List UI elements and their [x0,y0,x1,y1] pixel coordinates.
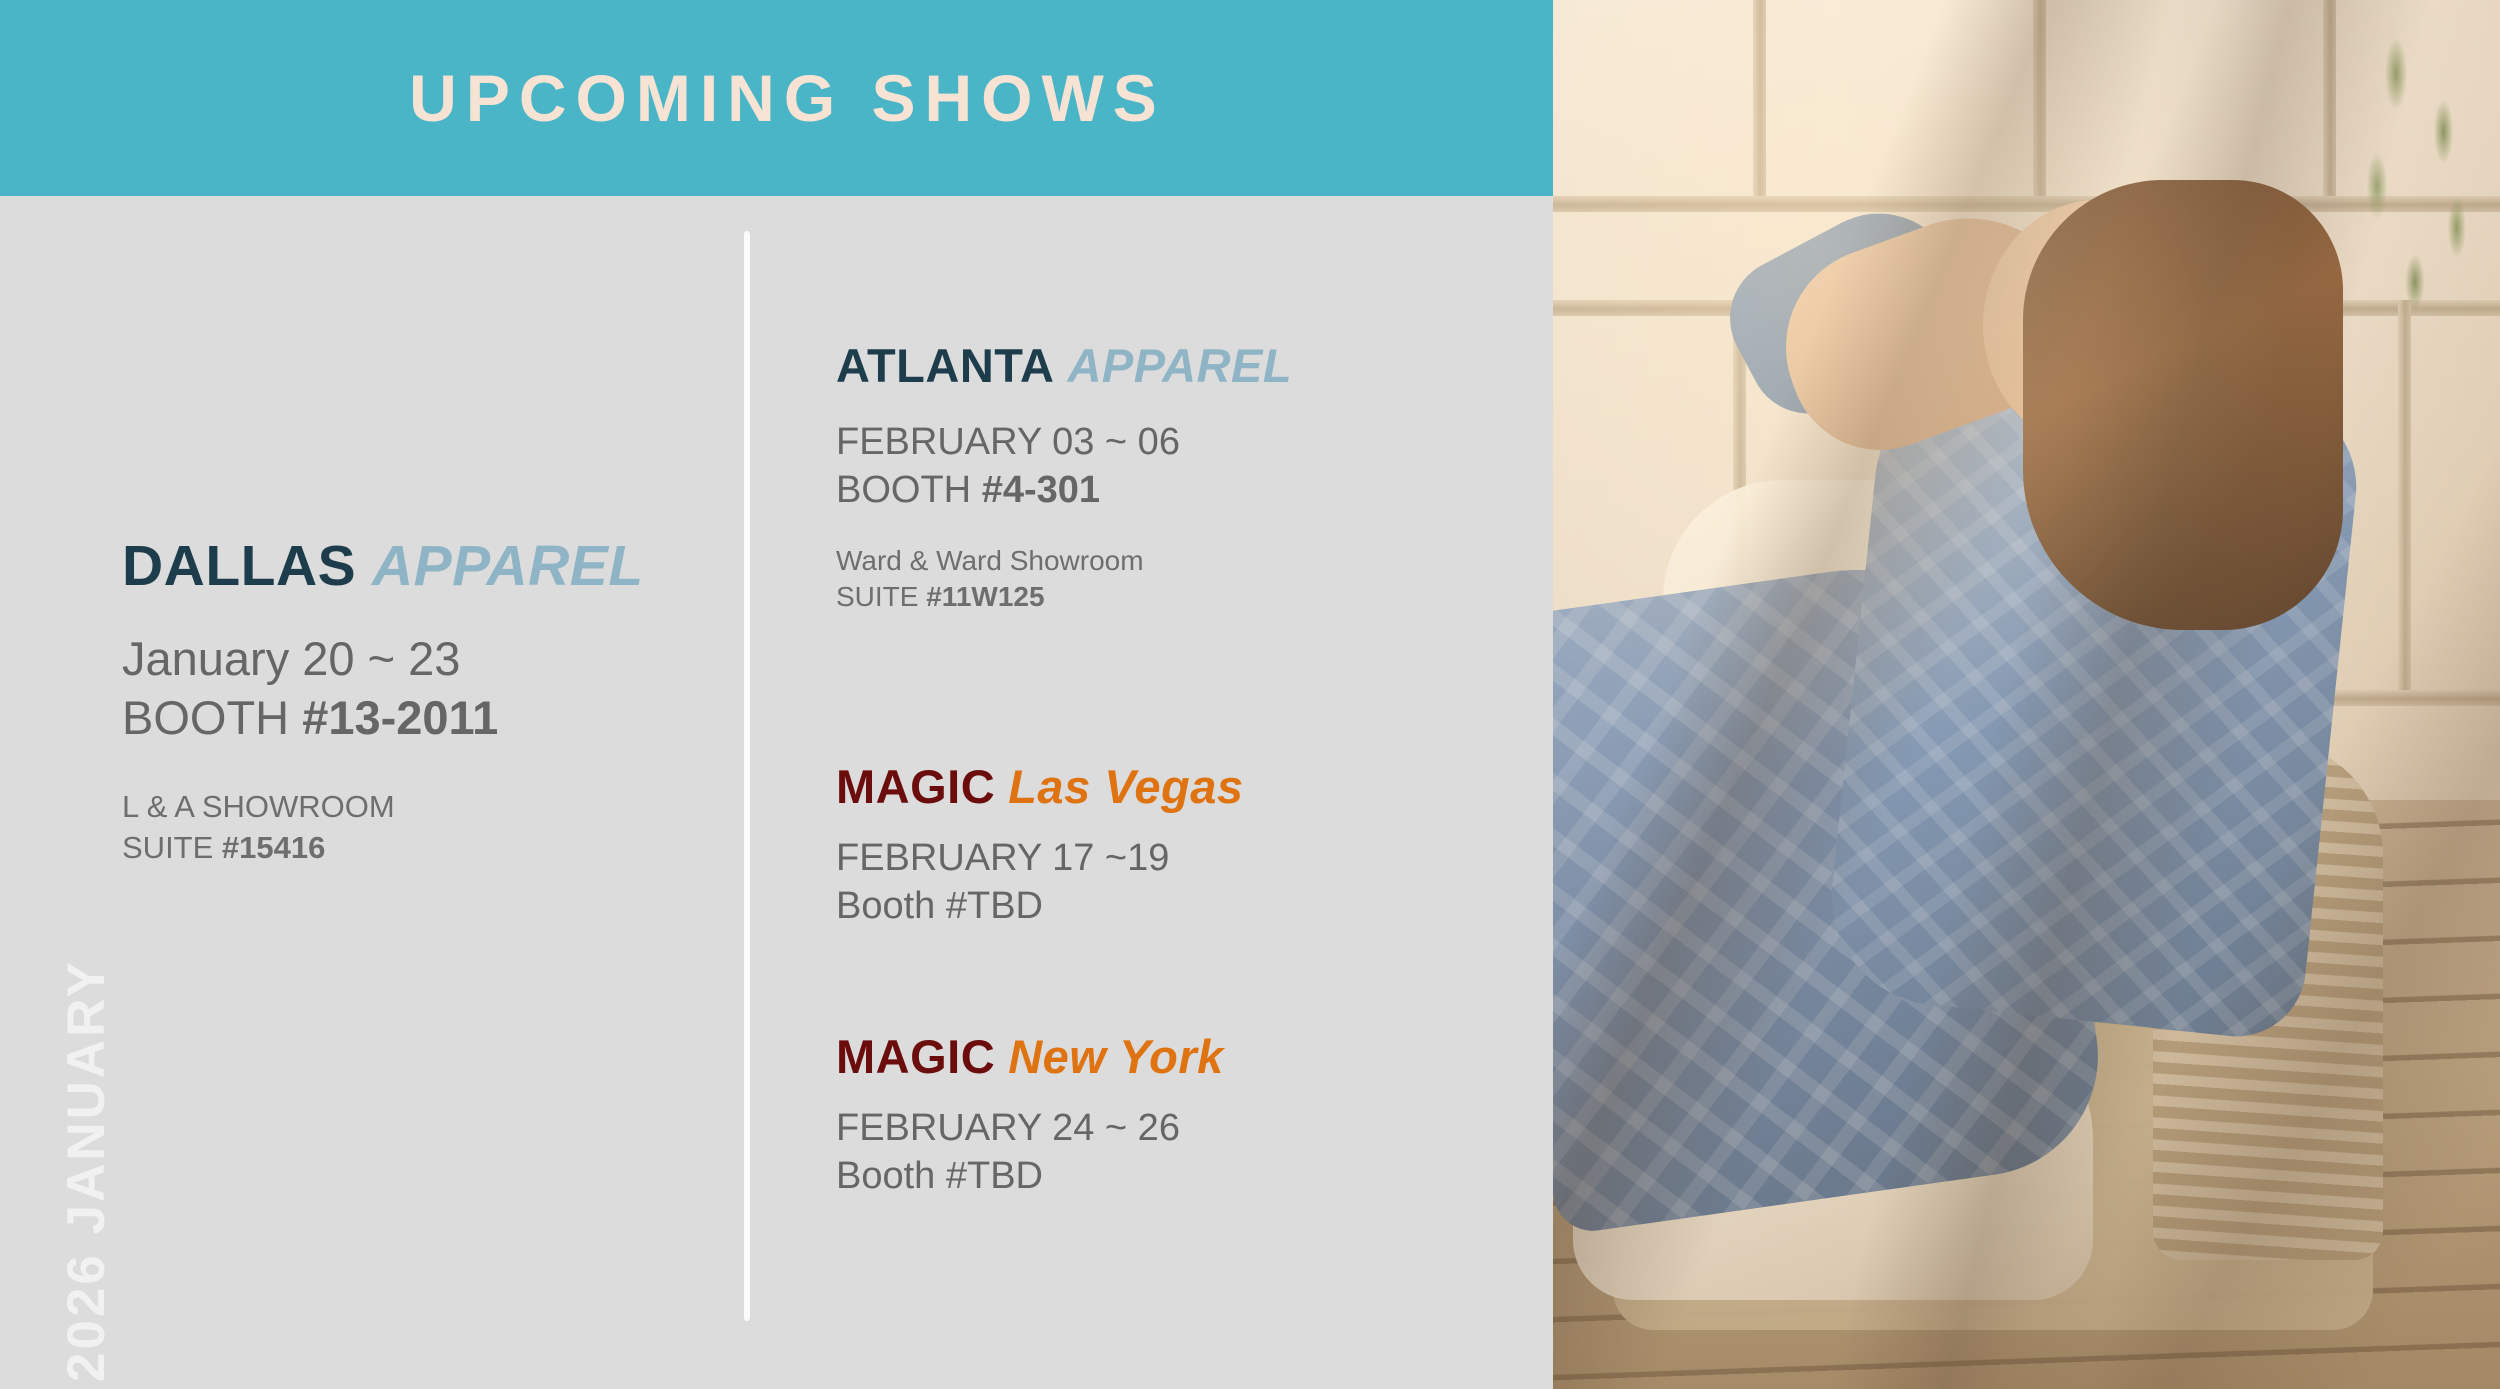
show-brand-atlanta: APPAREL [1067,339,1292,392]
dallas-booth-label: BOOTH [122,691,302,744]
photo-window-frame-v6 [2398,300,2411,690]
page-title: UPCOMING SHOWS [0,0,1553,196]
atlanta-suite-label: SUITE [836,581,926,612]
show-title-atlanta: ATLANTA APPAREL [836,342,1292,389]
dallas-showroom: L & A SHOWROOM [122,787,644,827]
photo-window-frame-v1 [1753,0,1766,196]
lifestyle-photo [1553,0,2500,1389]
atlanta-booth-label: BOOTH [836,469,982,511]
show-city-magic-lv: MAGIC [836,760,995,813]
dallas-suite-line: SUITE #15416 [122,828,644,868]
dallas-date-line: January 20 ~ 23 [122,629,644,688]
show-block-atlanta: ATLANTA APPAREL FEBRUARY 03 ~ 06 BOOTH #… [836,342,1292,616]
show-dates-new-york: FEBRUARY 24 ~ 26 Booth #TBD [836,1105,1224,1201]
lasvegas-date-line: FEBRUARY 17 ~19 [836,835,1244,883]
atlanta-date-line: FEBRUARY 03 ~ 06 [836,419,1292,467]
show-brand-dallas: APPAREL [372,534,644,598]
header-bar: UPCOMING SHOWS [0,0,1553,196]
show-block-magic-new-york: MAGIC New York FEBRUARY 24 ~ 26 Booth #T… [836,1033,1224,1201]
show-dates-dallas: January 20 ~ 23 BOOTH #13-2011 [122,629,644,747]
show-title-magic-new-york: MAGIC New York [836,1033,1224,1080]
show-sub-atlanta: Ward & Ward Showroom SUITE #11W125 [836,543,1292,616]
show-title-magic-las-vegas: MAGIC Las Vegas [836,763,1244,810]
upcoming-shows-slide: UPCOMING SHOWS 2026 JANUARY DALLAS APPAR… [0,0,2500,1389]
column-left: DALLAS APPAREL January 20 ~ 23 BOOTH #13… [0,196,744,1389]
show-dates-las-vegas: FEBRUARY 17 ~19 Booth #TBD [836,835,1244,931]
atlanta-booth-value: #4-301 [982,469,1100,511]
show-brand-new-york: New York [1008,1030,1224,1083]
photo-plant-leaves [2320,10,2500,330]
atlanta-showroom: Ward & Ward Showroom [836,543,1292,579]
atlanta-booth-line: BOOTH #4-301 [836,467,1292,515]
show-city-dallas: DALLAS [122,534,356,598]
dallas-suite-label: SUITE [122,830,222,865]
newyork-date-line: FEBRUARY 24 ~ 26 [836,1105,1224,1153]
dallas-suite-value: #15416 [222,830,325,865]
dallas-booth-line: BOOTH #13-2011 [122,688,644,747]
show-city-magic-ny: MAGIC [836,1030,995,1083]
column-right: ATLANTA APPAREL FEBRUARY 03 ~ 06 BOOTH #… [750,196,1553,1389]
info-panel: UPCOMING SHOWS 2026 JANUARY DALLAS APPAR… [0,0,1553,1389]
lasvegas-booth-line: Booth #TBD [836,883,1244,931]
photo-model-hair [2023,180,2343,630]
photo-window-frame-v2 [2033,0,2046,196]
show-block-magic-las-vegas: MAGIC Las Vegas FEBRUARY 17 ~19 Booth #T… [836,763,1244,931]
atlanta-suite-line: SUITE #11W125 [836,579,1292,615]
show-brand-las-vegas: Las Vegas [1008,760,1243,813]
show-dates-atlanta: FEBRUARY 03 ~ 06 BOOTH #4-301 [836,419,1292,515]
dallas-booth-value: #13-2011 [302,691,498,744]
newyork-booth-line: Booth #TBD [836,1153,1224,1201]
show-block-dallas: DALLAS APPAREL January 20 ~ 23 BOOTH #13… [122,538,644,868]
atlanta-suite-value: #11W125 [926,581,1044,612]
show-city-atlanta: ATLANTA [836,339,1054,392]
show-sub-dallas: L & A SHOWROOM SUITE #15416 [122,787,644,868]
show-title-dallas: DALLAS APPAREL [122,538,644,595]
